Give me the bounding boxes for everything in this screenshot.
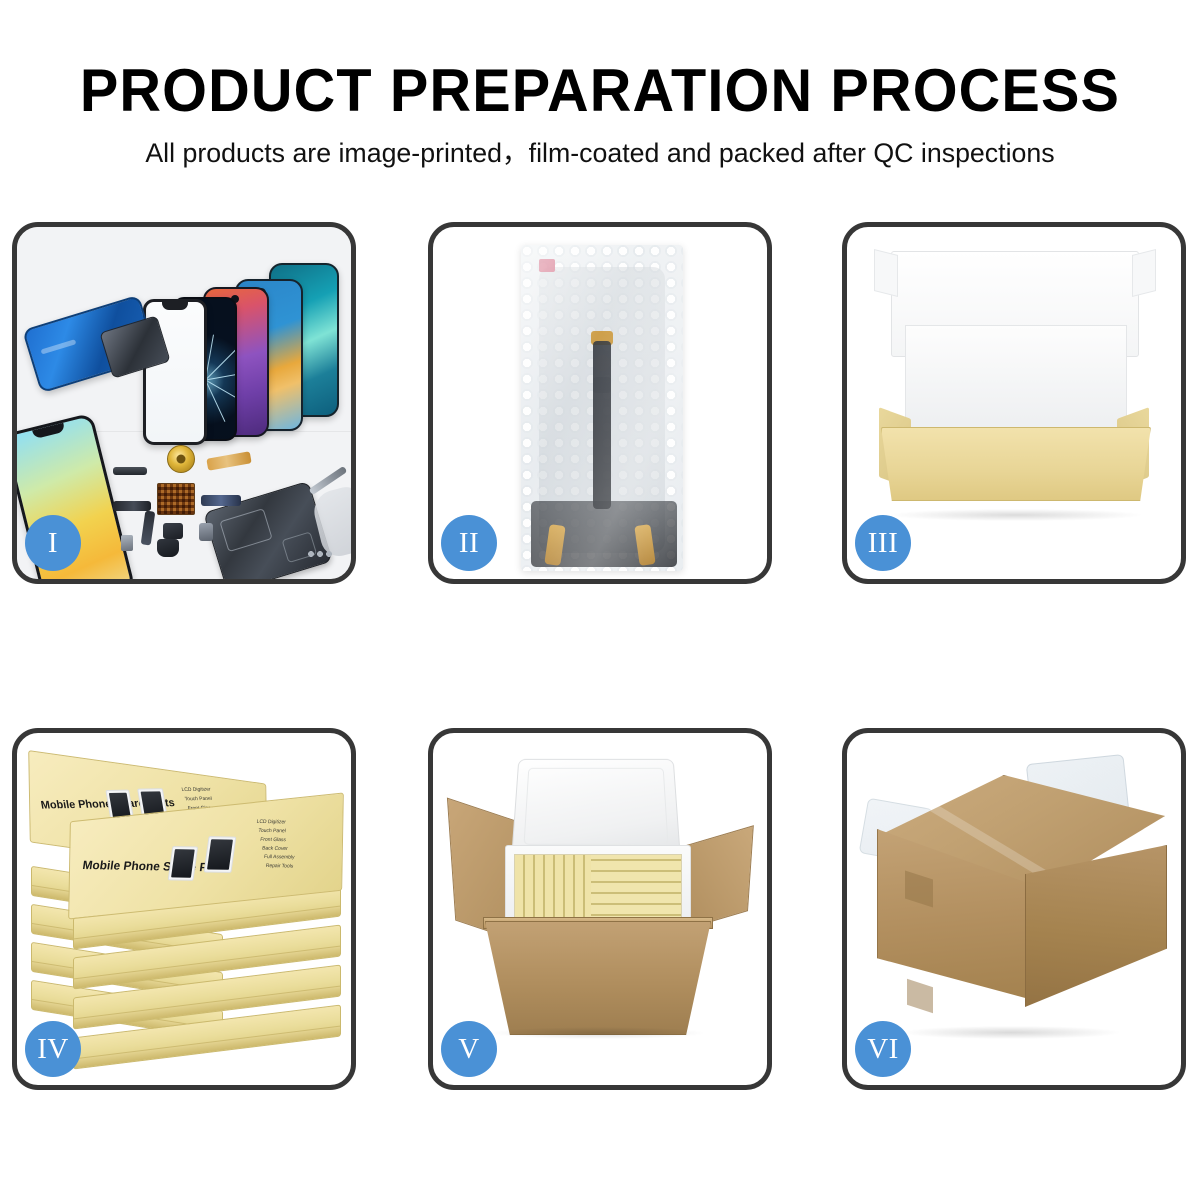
connector-part-a (199, 523, 213, 541)
pink-qc-label (539, 259, 555, 272)
speaker-coil-part (167, 445, 195, 473)
connector-part-b (121, 535, 133, 551)
process-steps-grid: I II (12, 222, 1188, 1106)
step-panel-1[interactable]: I (12, 222, 356, 584)
box-foam-backing (905, 325, 1127, 439)
flex-cable-dark-part (113, 501, 151, 511)
retail-box-feature-back-1: LCD Digitizer (181, 786, 211, 793)
step-panel-6[interactable]: VI (842, 728, 1186, 1090)
foam-lid (511, 759, 680, 855)
retail-box-feature-back-2: Touch Panel (184, 796, 212, 803)
packed-boxes-area (514, 854, 682, 926)
display-flex-cable (593, 341, 611, 509)
shipping-carton-shadow (903, 1026, 1119, 1039)
box-front-panel (881, 427, 1151, 501)
step-badge-1: I (25, 515, 81, 571)
carton-tape-patch-lower (907, 979, 933, 1013)
buzzer-part (157, 539, 179, 557)
flex-cable-blue-part (201, 495, 241, 506)
packed-boxes-horizontal (591, 855, 681, 925)
earpiece-speaker-part (113, 467, 147, 475)
box-shadow (891, 509, 1141, 521)
camera-module-part (163, 523, 183, 539)
carton-body (485, 921, 711, 1035)
step-panel-2[interactable]: II (428, 222, 772, 584)
retail-box-feature-front-1: LCD Digitizer (256, 819, 286, 826)
page-title: PRODUCT PREPARATION PROCESS (24, 0, 1176, 122)
chip-grid-part (157, 483, 195, 515)
retail-box-feature-front-2: Touch Panel (258, 828, 286, 835)
step-badge-4: IV (25, 1021, 81, 1077)
retail-box-feature-front-4: Back Cover (262, 845, 288, 851)
step-panel-5[interactable]: V (428, 728, 772, 1090)
step-badge-5: V (441, 1021, 497, 1077)
step-badge-3: III (855, 515, 911, 571)
retail-box-feature-front-5: Full Assembly (264, 854, 295, 861)
step-panel-4[interactable]: Mobile Phone Spare Parts LCD Digitizer T… (12, 728, 356, 1090)
screws-part (307, 549, 333, 559)
packed-boxes-vertical (515, 855, 591, 925)
step-badge-6: VI (855, 1021, 911, 1077)
retail-box-thumb-front-1 (168, 846, 198, 881)
step-badge-2: II (441, 515, 497, 571)
retail-box-feature-front-3: Front Glass (260, 837, 286, 843)
carton-shadow (493, 1027, 703, 1039)
retail-box-thumb-front-2 (204, 836, 237, 873)
page-header: PRODUCT PREPARATION PROCESS All products… (0, 0, 1200, 200)
step-panel-3[interactable]: III (842, 222, 1186, 584)
retail-box-feature-front-6: Repair Tools (265, 863, 293, 870)
bubble-wrap-bag (521, 245, 683, 571)
page-subtitle: All products are image-printed，film-coat… (6, 122, 1194, 168)
